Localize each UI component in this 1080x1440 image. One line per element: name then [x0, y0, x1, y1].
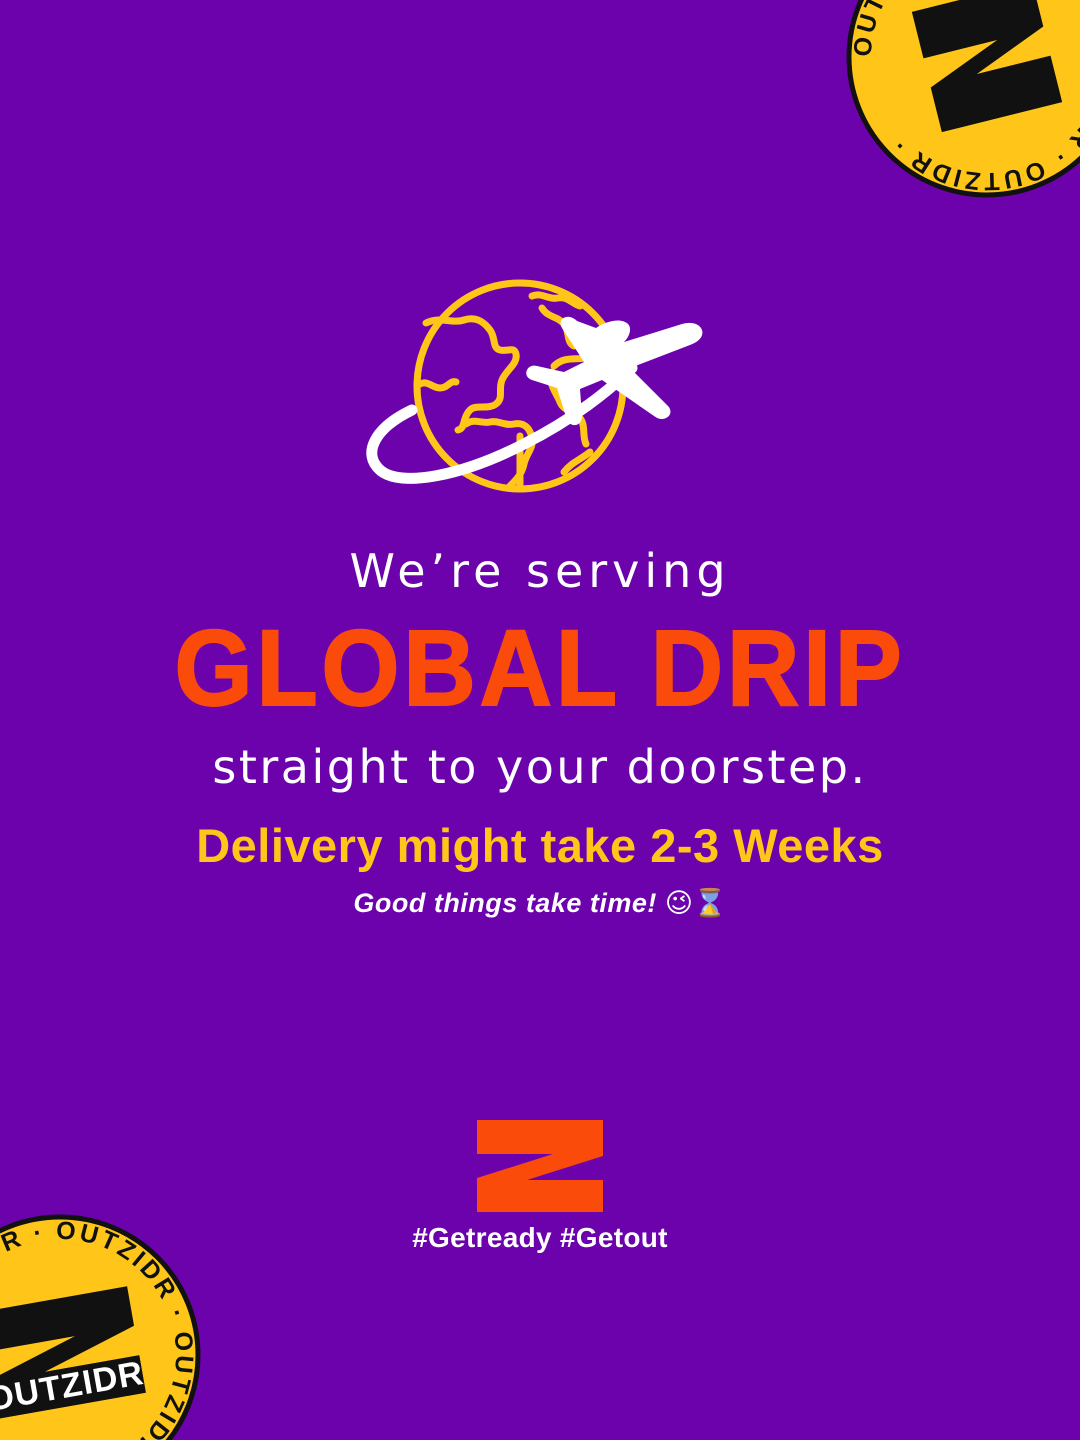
delivery-headline: Delivery might take 2-3 Weeks	[0, 820, 1080, 872]
delivery-block: Delivery might take 2-3 Weeks Good thing…	[0, 820, 1080, 918]
headline-block: We’re serving GLOBAL DRIP straight to yo…	[0, 548, 1080, 790]
outzidr-z-logo	[477, 1120, 603, 1212]
globe-airplane-icon	[366, 276, 714, 508]
promo-poster: OUTZIDR · OUTZIDR · OUTZIDR · OUTZIDR ·	[0, 0, 1080, 1440]
outzidr-stamp-top-right: OUTZIDR · OUTZIDR · OUTZIDR · OUTZIDR ·	[842, 0, 1080, 202]
wink-hourglass-emoji: 😉⌛	[665, 888, 727, 919]
delivery-subnote: Good things take time! 😉⌛	[0, 889, 1080, 919]
hero-subhead: straight to your doorstep.	[0, 744, 1080, 790]
delivery-subnote-text: Good things take time!	[353, 888, 657, 918]
hero-eyebrow: We’re serving	[0, 548, 1080, 594]
hero-headline: GLOBAL DRIP	[38, 614, 1042, 722]
airplane-icon	[526, 317, 702, 425]
outzidr-stamp-bottom-left: OUTZIDR · OUTZIDR · OUTZIDR · OUTZIDR · …	[0, 1210, 205, 1440]
